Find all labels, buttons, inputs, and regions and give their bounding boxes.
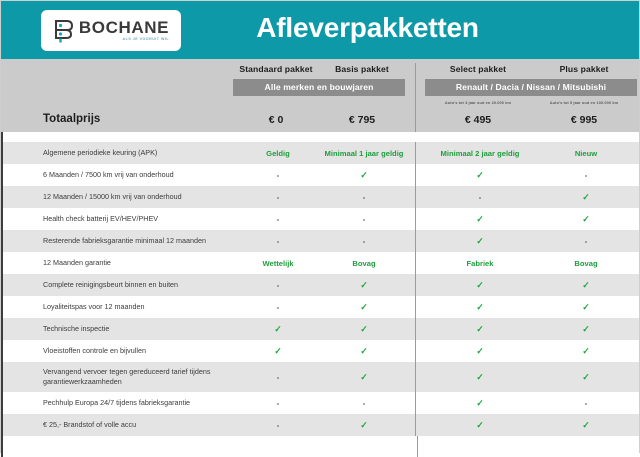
footer-group-divider <box>417 436 418 457</box>
row-cell-col1: - <box>235 303 321 312</box>
price-select: € 495 <box>425 114 531 126</box>
row-cell-col4: - <box>533 237 639 246</box>
row-label: Resterende fabrieksgarantie minimaal 12 … <box>43 236 233 246</box>
table-footer-strip <box>1 436 639 457</box>
band-spacer <box>1 132 639 142</box>
afleverpakketten-page: BOCHANE ALS JE VOORUIT WIL Afleverpakket… <box>0 0 640 453</box>
total-price-row: € 0 € 795 € 495 € 995 <box>1 112 639 126</box>
table-row: Health check batterij EV/HEV/PHEV--✓✓ <box>1 208 639 230</box>
row-cell-col3: ✓ <box>427 324 533 335</box>
row-cell-col1: - <box>235 281 321 290</box>
price-basis: € 795 <box>319 114 405 126</box>
row-cell-col3: Fabriek <box>427 259 533 268</box>
price-standaard: € 0 <box>233 114 319 126</box>
row-cell-col4: ✓ <box>533 302 639 313</box>
table-row: Vervangend vervoer tegen gereduceerd tar… <box>1 362 639 392</box>
row-cell-col1: - <box>235 399 321 408</box>
row-cell-col1: - <box>235 421 321 430</box>
row-label: Technische inspectie <box>43 324 233 334</box>
table-row: Complete reinigingsbeurt binnen en buite… <box>1 274 639 296</box>
row-cell-col2: Bovag <box>321 259 407 268</box>
table-row: Technische inspectie✓✓✓✓ <box>1 318 639 340</box>
rows-group-divider <box>415 142 416 436</box>
row-cell-col1: ✓ <box>235 324 321 335</box>
row-cell-col3: ✓ <box>427 302 533 313</box>
package-group-right: Select pakket Plus pakket Renault / Daci… <box>425 64 637 105</box>
row-cell-col4: - <box>533 399 639 408</box>
package-header-basis: Basis pakket <box>319 64 405 74</box>
row-label: Pechhulp Europa 24/7 tijdens fabrieksgar… <box>43 398 233 408</box>
row-cell-col3: - <box>427 193 533 202</box>
row-cell-col3: ✓ <box>427 398 533 409</box>
row-cell-col2: ✓ <box>321 372 407 383</box>
row-cell-col3: ✓ <box>427 420 533 431</box>
row-label: Vervangend vervoer tegen gereduceerd tar… <box>43 367 233 388</box>
row-cell-col1: - <box>235 237 321 246</box>
row-cell-col4: Nieuw <box>533 149 639 158</box>
row-cell-col2: ✓ <box>321 420 407 431</box>
row-cell-col1: - <box>235 193 321 202</box>
row-cell-col2: - <box>321 237 407 246</box>
group-right-pill: Renault / Dacia / Nissan / Mitsubishi <box>425 79 637 96</box>
row-cell-col1: - <box>235 171 321 180</box>
table-row: 6 Maanden / 7500 km vrij van onderhoud-✓… <box>1 164 639 186</box>
row-cell-col2: ✓ <box>321 346 407 357</box>
package-header-standaard: Standaard pakket <box>233 64 319 74</box>
row-cell-col2: ✓ <box>321 324 407 335</box>
table-row: Vloeistoffen controle en bijvullen✓✓✓✓ <box>1 340 639 362</box>
package-column-band: Standaard pakket Basis pakket Alle merke… <box>1 59 639 132</box>
page-header: BOCHANE ALS JE VOORUIT WIL Afleverpakket… <box>1 1 639 59</box>
row-cell-col4: ✓ <box>533 420 639 431</box>
row-cell-col4: - <box>533 171 639 180</box>
row-cell-col3: ✓ <box>427 214 533 225</box>
row-cell-col3: ✓ <box>427 372 533 383</box>
row-label: Loyaliteitspas voor 12 maanden <box>43 302 233 312</box>
group-left-pill: Alle merken en bouwjaren <box>233 79 405 96</box>
package-note-plus: Auto's tot 5 jaar oud en 100.000 km <box>531 100 637 105</box>
row-cell-col1: ✓ <box>235 346 321 357</box>
row-label: 12 Maanden / 15000 km vrij van onderhoud <box>43 192 233 202</box>
row-cell-col3: ✓ <box>427 236 533 247</box>
row-label: Complete reinigingsbeurt binnen en buite… <box>43 280 233 290</box>
row-cell-col3: ✓ <box>427 280 533 291</box>
row-cell-col1: - <box>235 215 321 224</box>
row-label: Vloeistoffen controle en bijvullen <box>43 346 233 356</box>
row-cell-col4: ✓ <box>533 324 639 335</box>
row-cell-col1: Wettelijk <box>235 259 321 268</box>
row-cell-col2: - <box>321 399 407 408</box>
row-cell-col2: ✓ <box>321 302 407 313</box>
page-title: Afleverpakketten <box>1 12 639 44</box>
row-cell-col2: ✓ <box>321 280 407 291</box>
row-cell-col4: Bovag <box>533 259 639 268</box>
row-cell-col4: ✓ <box>533 214 639 225</box>
package-header-select: Select pakket <box>425 64 531 74</box>
table-row: € 25,- Brandstof of volle accu-✓✓✓ <box>1 414 639 436</box>
package-group-left: Standaard pakket Basis pakket Alle merke… <box>233 64 405 100</box>
row-cell-col4: ✓ <box>533 192 639 203</box>
row-cell-col2: - <box>321 215 407 224</box>
feature-table: Algemene periodieke keuring (APK)GeldigM… <box>1 142 639 436</box>
row-cell-col2: Minimaal 1 jaar geldig <box>321 149 407 158</box>
row-cell-col3: Minimaal 2 jaar geldig <box>427 149 533 158</box>
table-row: Algemene periodieke keuring (APK)GeldigM… <box>1 142 639 164</box>
table-row: Loyaliteitspas voor 12 maanden-✓✓✓ <box>1 296 639 318</box>
row-cell-col3: ✓ <box>427 170 533 181</box>
row-cell-col4: ✓ <box>533 372 639 383</box>
row-cell-col4: ✓ <box>533 280 639 291</box>
table-row: Resterende fabrieksgarantie minimaal 12 … <box>1 230 639 252</box>
row-label: 6 Maanden / 7500 km vrij van onderhoud <box>43 170 233 180</box>
package-header-plus: Plus pakket <box>531 64 637 74</box>
row-cell-col2: - <box>321 193 407 202</box>
row-label: Health check batterij EV/HEV/PHEV <box>43 214 233 224</box>
table-row: 12 Maanden garantieWettelijkBovagFabriek… <box>1 252 639 274</box>
row-label: 12 Maanden garantie <box>43 258 233 268</box>
table-row: Pechhulp Europa 24/7 tijdens fabrieksgar… <box>1 392 639 414</box>
package-note-select: Auto's tot 3 jaar oud en 20.000 km <box>425 100 531 105</box>
row-cell-col3: ✓ <box>427 346 533 357</box>
row-cell-col1: Geldig <box>235 149 321 158</box>
row-label: Algemene periodieke keuring (APK) <box>43 148 233 158</box>
row-label: € 25,- Brandstof of volle accu <box>43 420 233 430</box>
row-cell-col1: - <box>235 373 321 382</box>
price-plus: € 995 <box>531 114 637 126</box>
row-cell-col4: ✓ <box>533 346 639 357</box>
row-cell-col2: ✓ <box>321 170 407 181</box>
table-row: 12 Maanden / 15000 km vrij van onderhoud… <box>1 186 639 208</box>
